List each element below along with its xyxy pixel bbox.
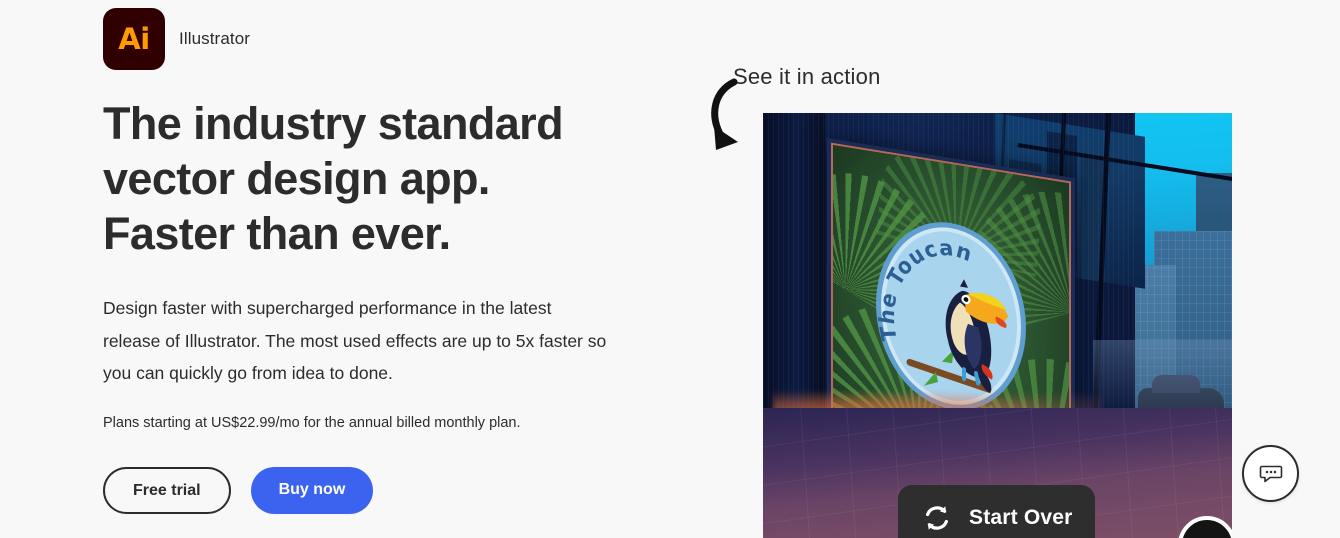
illustrator-landing-page: Ai Illustrator The industry standard vec… <box>0 0 1340 538</box>
cta-button-group: Free trial Buy now <box>103 467 663 514</box>
hero-description: Design faster with supercharged performa… <box>103 292 608 391</box>
demo-video-player[interactable]: The Toucan <box>763 113 1232 538</box>
refresh-icon <box>922 503 952 533</box>
see-it-in-action-label: See it in action <box>733 64 881 90</box>
street-ambient-light <box>1093 340 1232 410</box>
hero-left-column: Ai Illustrator The industry standard vec… <box>103 0 663 538</box>
chat-bubble-icon <box>1258 461 1284 487</box>
illustrator-logo-text: Ai <box>118 25 149 54</box>
buy-now-button[interactable]: Buy now <box>251 467 374 514</box>
free-trial-button[interactable]: Free trial <box>103 467 231 514</box>
start-over-button[interactable]: Start Over <box>898 485 1095 538</box>
product-identity: Ai Illustrator <box>103 8 663 70</box>
start-over-label: Start Over <box>969 506 1073 530</box>
pricing-note: Plans starting at US$22.99/mo for the an… <box>103 413 663 433</box>
page-title: The industry standard vector design app.… <box>103 97 623 262</box>
illustrator-logo-icon: Ai <box>103 8 165 70</box>
chat-bubble-button[interactable] <box>1242 445 1299 502</box>
product-name: Illustrator <box>179 29 250 49</box>
